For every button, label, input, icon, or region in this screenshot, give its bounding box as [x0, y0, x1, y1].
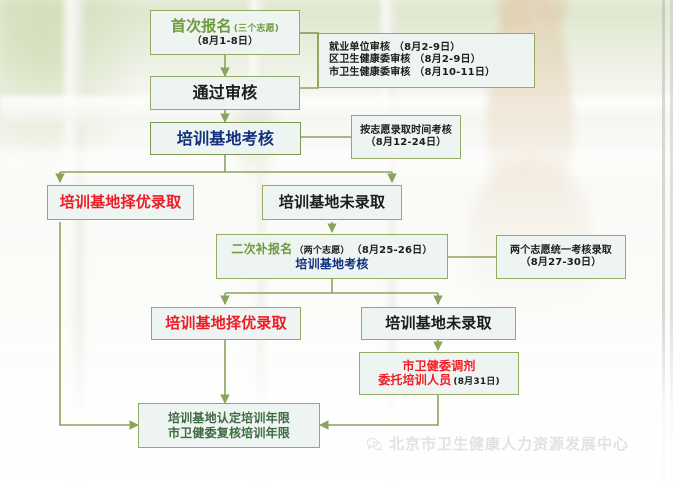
screenshot-root: 首次报名 (三个志愿) （8月1-8日） 就业单位审核 （8月2-9日） 区卫生… — [0, 0, 673, 481]
node-second-registration[interactable]: 二次补报名 （两个志愿） （8月25-26日） 培训基地考核 — [216, 234, 448, 279]
not-admitted-first-label: 培训基地未录取 — [279, 193, 385, 211]
review-line-2: 区卫生健康委审核 （8月2-9日） — [329, 54, 481, 66]
exam-schedule-line-1: 按志愿录取时间考核 — [360, 125, 452, 137]
admitted-first-label: 培训基地择优录取 — [60, 193, 182, 211]
node-not-admitted-second[interactable]: 培训基地未录取 — [361, 307, 516, 340]
admitted-second-label: 培训基地择优录取 — [165, 314, 287, 332]
node-unified-exam[interactable]: 两个志愿统一考核录取 （8月27-30日） — [496, 235, 626, 279]
exam-schedule-line-2: （8月12-24日） — [366, 137, 447, 149]
reassignment-line-1: 市卫健委调剂 — [402, 359, 475, 374]
reassignment-date: (8月31日) — [453, 377, 499, 388]
node-admitted-first[interactable]: 培训基地择优录取 — [47, 185, 194, 220]
node-duration-confirm[interactable]: 培训基地认定培训年限 市卫健委复核培训年限 — [138, 403, 320, 448]
node-reassignment[interactable]: 市卫健委调剂 委托培训人员 (8月31日) — [359, 352, 519, 395]
reassignment-line-2: 委托培训人员 — [378, 373, 451, 388]
duration-line-1: 培训基地认定培训年限 — [168, 411, 290, 426]
node-review-list[interactable]: 就业单位审核 （8月2-9日） 区卫生健康委审核 （8月2-9日） 市卫生健康委… — [318, 33, 535, 88]
second-registration-note: （两个志愿） — [294, 246, 349, 257]
flow-nodes: 首次报名 (三个志愿) （8月1-8日） 就业单位审核 （8月2-9日） 区卫生… — [0, 0, 673, 481]
not-admitted-second-label: 培训基地未录取 — [385, 314, 491, 332]
base-exam-first-label: 培训基地考核 — [177, 129, 274, 149]
second-registration-exam: 培训基地考核 — [295, 257, 368, 272]
second-registration-title: 二次补报名 — [231, 242, 292, 257]
node-not-admitted-first[interactable]: 培训基地未录取 — [262, 185, 402, 220]
pass-review-label: 通过审核 — [193, 83, 258, 103]
unified-exam-line-2: （8月27-30日） — [521, 257, 602, 269]
wechat-icon — [366, 437, 383, 451]
first-registration-note: (三个志愿) — [234, 24, 279, 35]
watermark-text: 北京市卫生健康人力资源发展中心 — [389, 433, 629, 454]
duration-line-2: 市卫健委复核培训年限 — [168, 426, 290, 441]
review-line-3: 市卫生健康委审核 （8月10-11日） — [329, 67, 495, 79]
first-registration-date: （8月1-8日） — [192, 36, 259, 48]
node-pass-review[interactable]: 通过审核 — [150, 76, 300, 110]
review-line-1: 就业单位审核 （8月2-9日） — [329, 42, 461, 54]
first-registration-title: 首次报名 — [171, 17, 232, 35]
watermark: 北京市卫生健康人力资源发展中心 — [366, 433, 629, 454]
node-base-exam-first[interactable]: 培训基地考核 — [150, 122, 301, 155]
node-admitted-second[interactable]: 培训基地择优录取 — [151, 307, 301, 340]
unified-exam-line-1: 两个志愿统一考核录取 — [510, 245, 612, 257]
node-exam-schedule[interactable]: 按志愿录取时间考核 （8月12-24日） — [351, 115, 461, 159]
node-first-registration[interactable]: 首次报名 (三个志愿) （8月1-8日） — [150, 10, 300, 55]
second-registration-date: （8月25-26日） — [352, 245, 433, 257]
